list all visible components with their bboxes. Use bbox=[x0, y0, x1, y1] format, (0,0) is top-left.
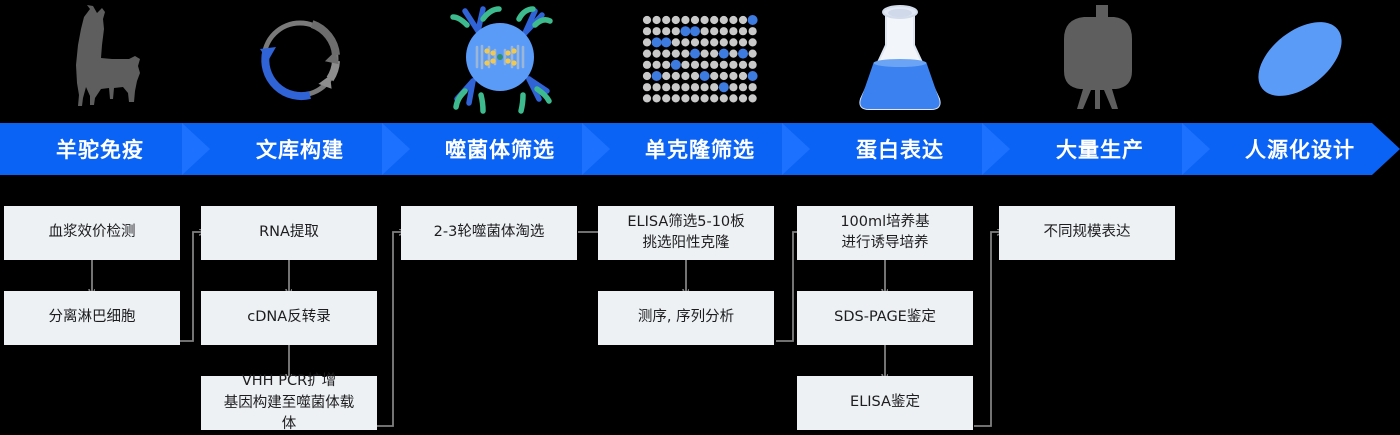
step-box-phage-panning[interactable]: 2-3轮噬菌体淘选 bbox=[401, 206, 577, 260]
step-box-elisa-identification[interactable]: ELISA鉴定 bbox=[797, 376, 973, 430]
banner-label-immunization[interactable]: 羊驼免疫 bbox=[0, 123, 200, 175]
flask-icon bbox=[800, 0, 1000, 118]
icon-row bbox=[0, 0, 1400, 120]
step-box-elisa-screening[interactable]: ELISA筛选5-10板 挑选阳性克隆 bbox=[598, 206, 774, 260]
banner-label-mass-production[interactable]: 大量生产 bbox=[1000, 123, 1200, 175]
step-box-cdna-rt[interactable]: cDNA反转录 bbox=[201, 291, 377, 345]
alpaca-icon bbox=[0, 0, 200, 118]
process-flow: 血浆效价检测 分离淋巴细胞 RNA提取 cDNA反转录 VHH PCR扩增 基因… bbox=[0, 175, 1400, 433]
step-box-plasma-titer[interactable]: 血浆效价检测 bbox=[4, 206, 180, 260]
plasmid-icon bbox=[200, 0, 400, 118]
microplate-icon bbox=[600, 0, 800, 118]
banner-label-monoclonal-screening[interactable]: 单克隆筛选 bbox=[600, 123, 800, 175]
stage-banner: 羊驼免疫 文库构建 噬菌体筛选 单克隆筛选 蛋白表达 大量生产 人源化设计 bbox=[0, 123, 1400, 175]
step-box-rna-extraction[interactable]: RNA提取 bbox=[201, 206, 377, 260]
step-box-sds-page[interactable]: SDS-PAGE鉴定 bbox=[797, 291, 973, 345]
step-box-scale-expression[interactable]: 不同规模表达 bbox=[999, 206, 1175, 260]
workflow-diagram: 羊驼免疫 文库构建 噬菌体筛选 单克隆筛选 蛋白表达 大量生产 人源化设计 bbox=[0, 0, 1400, 433]
step-box-sequencing[interactable]: 测序, 序列分析 bbox=[598, 291, 774, 345]
banner-label-protein-expression[interactable]: 蛋白表达 bbox=[800, 123, 1000, 175]
step-box-vhh-pcr[interactable]: VHH PCR扩增 基因构建至噬菌体载体 bbox=[201, 376, 377, 430]
step-box-induction-culture[interactable]: 100ml培养基 进行诱导培养 bbox=[797, 206, 973, 260]
banner-label-phage-display[interactable]: 噬菌体筛选 bbox=[400, 123, 600, 175]
step-box-isolate-lymphocytes[interactable]: 分离淋巴细胞 bbox=[4, 291, 180, 345]
phage-icon bbox=[400, 0, 600, 118]
banner-label-humanization[interactable]: 人源化设计 bbox=[1200, 123, 1400, 175]
banner-label-library-construction[interactable]: 文库构建 bbox=[200, 123, 400, 175]
fermenter-icon bbox=[1000, 0, 1200, 118]
ellipse-icon bbox=[1200, 0, 1400, 118]
